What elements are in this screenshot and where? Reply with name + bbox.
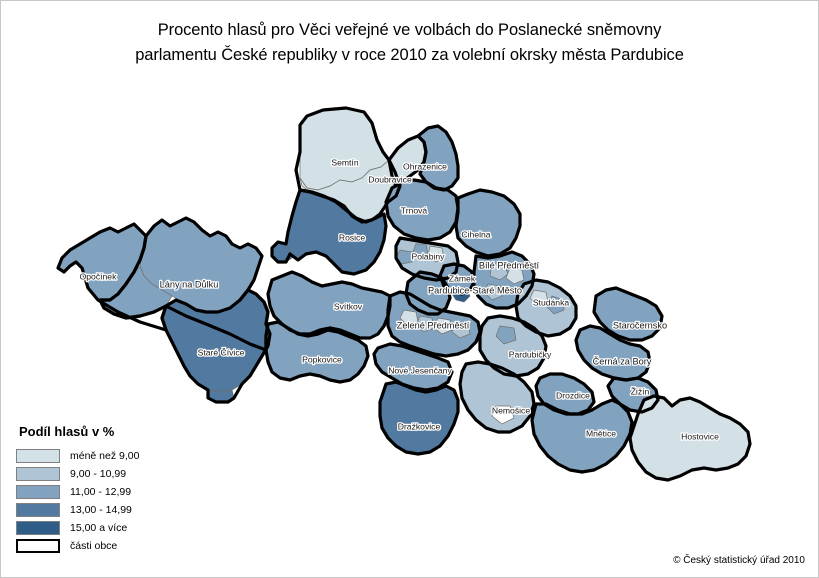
legend-swatch-class-2: [16, 485, 60, 499]
legend-swatch-boundary: [16, 539, 60, 553]
map-label-trnov-: Trnová: [401, 205, 428, 215]
map-label-hostovice: Hostovice: [681, 431, 719, 441]
map-label-sv-tkov: Svítkov: [334, 301, 363, 311]
map-label-doubravice: Doubravice: [368, 174, 412, 184]
map-label--ern-za-bory: Černá za Bory: [593, 356, 652, 366]
legend-row: části obce: [16, 537, 216, 554]
legend-swatch-class-0: [16, 449, 60, 463]
map-label-ohrazenice: Ohrazenice: [403, 161, 447, 171]
map-label-staro-ernsko: Staročernsko: [613, 320, 667, 330]
map-label-mn-tice: Mnětice: [586, 428, 616, 438]
legend-swatch-class-4: [16, 521, 60, 535]
legend-label: 11,00 - 12,99: [70, 486, 131, 498]
map-label-dra-kovice: Dražkovice: [398, 421, 441, 431]
map-label-nemo-ice: Nemošice: [492, 405, 530, 415]
map-label-star-vice: Staré Čívice: [198, 347, 245, 357]
legend-swatch-class-3: [16, 503, 60, 517]
legend: Podíl hlasů v % méně než 9,009,00 - 10,9…: [16, 424, 216, 555]
map-label-opo-nek: Opočínek: [80, 271, 117, 281]
map-label-zelen-p-edm-st-: Zelené Předměstí: [397, 320, 470, 330]
legend-row: 13,00 - 14,99: [16, 501, 216, 518]
legend-swatch-class-1: [16, 467, 60, 481]
copyright-notice: © Český statistický úřad 2010: [673, 555, 805, 566]
legend-label: 13,00 - 14,99: [70, 504, 132, 516]
map-label-pardubice-star-m-sto: Pardubice-Staré Město: [428, 285, 522, 295]
map-label-polabiny: Polabiny: [412, 251, 446, 261]
legend-row: 9,00 - 10,99: [16, 465, 216, 482]
legend-row: méně než 9,00: [16, 447, 216, 464]
map-label-stud-nka: Studánka: [533, 297, 570, 307]
legend-row: 15,00 a více: [16, 519, 216, 536]
legend-row: 11,00 - 12,99: [16, 483, 216, 500]
map-label-popkovice: Popkovice: [302, 354, 342, 364]
map-label-cihelna: Cihelna: [461, 229, 490, 239]
map-label-z-mek: Zámek: [449, 273, 476, 283]
legend-label: 15,00 a více: [70, 522, 127, 534]
map-label-pardubi-ky: Pardubičky: [509, 349, 552, 359]
map-label-semt-n: Semtín: [331, 157, 358, 167]
map-label-rosice: Rosice: [339, 232, 365, 242]
map-label-l-ny-na-d-lku: Lány na Důlku: [160, 279, 219, 289]
legend-label: méně než 9,00: [70, 450, 139, 462]
map-label-nov-jesen-any: Nové Jesenčany: [388, 365, 452, 375]
legend-label: 9,00 - 10,99: [70, 468, 126, 480]
map-label-drozdice: Drozdice: [556, 390, 590, 400]
map-label--i-n: Žižín: [631, 386, 650, 396]
legend-rows: méně než 9,009,00 - 10,9911,00 - 12,9913…: [16, 447, 216, 554]
map-label-b-l-p-edm-st-: Bílé Předměstí: [479, 260, 540, 270]
legend-title: Podíl hlasů v %: [19, 424, 216, 439]
legend-label: části obce: [70, 540, 117, 552]
